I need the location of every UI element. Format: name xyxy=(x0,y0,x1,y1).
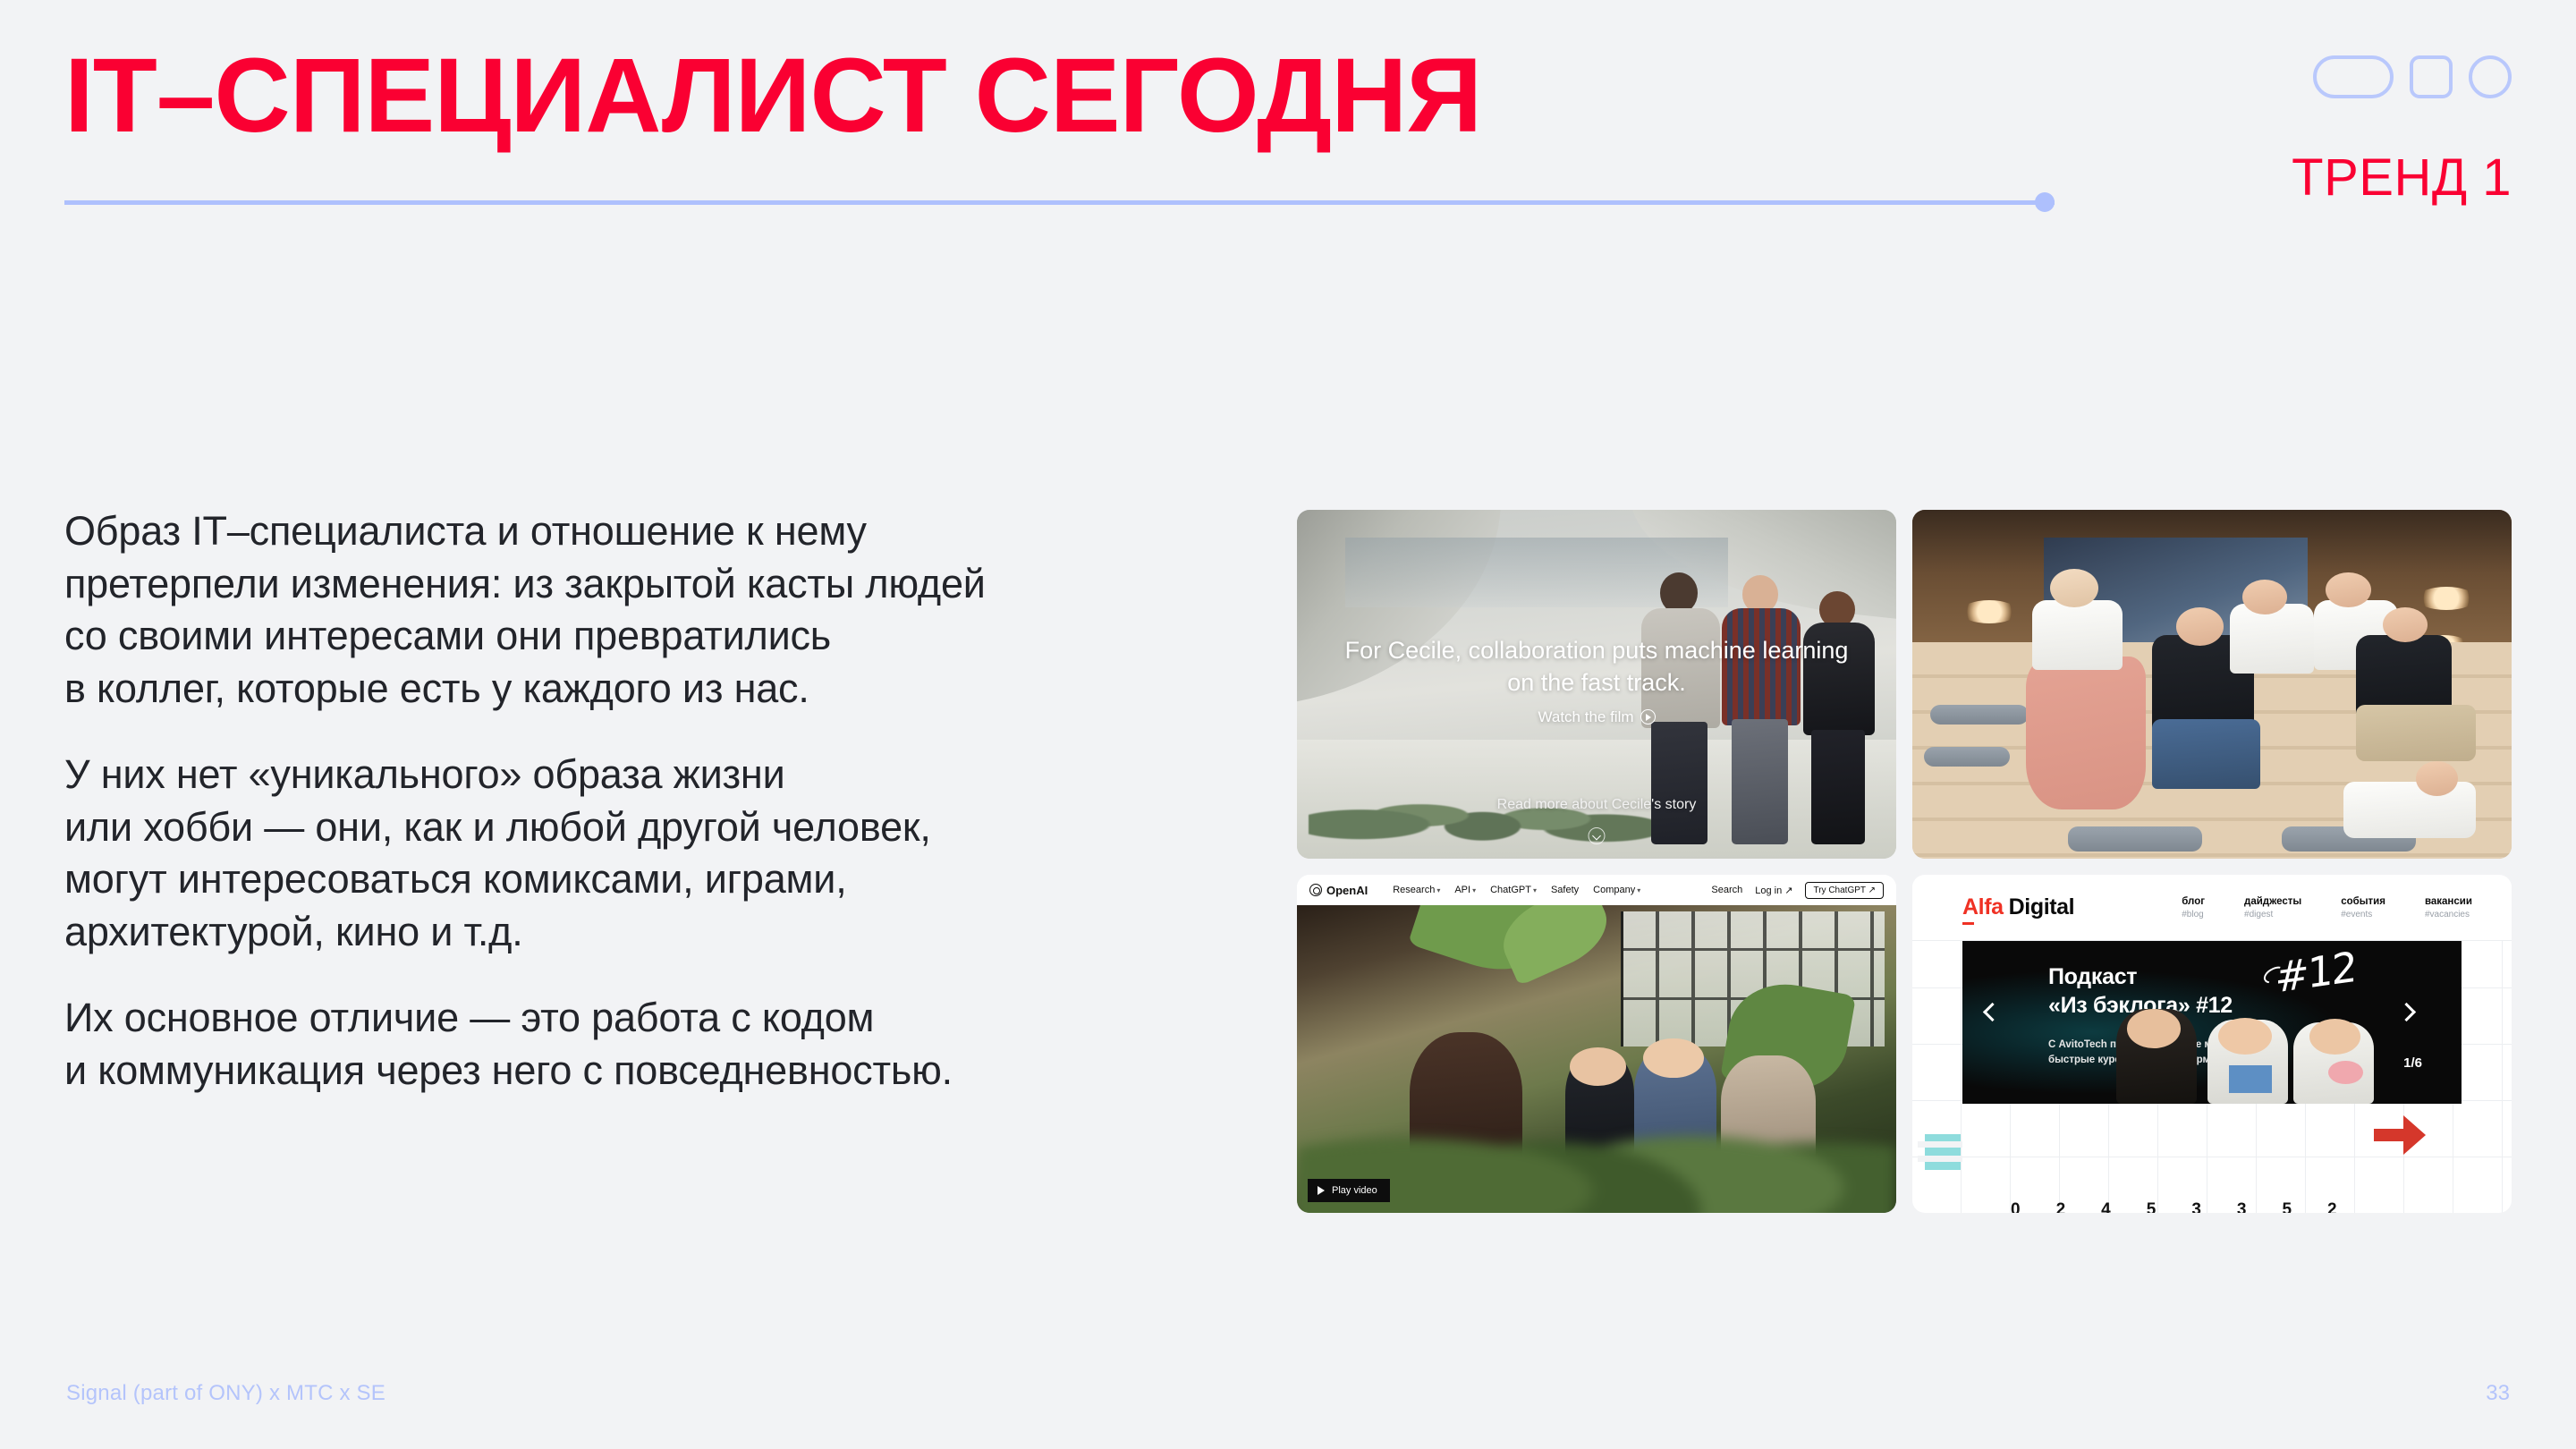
alfa-digital-logo[interactable]: Alfa Digital xyxy=(1962,894,2074,920)
person-white-tee xyxy=(2230,604,2314,674)
team-photo-image xyxy=(1912,510,2512,859)
openai-menu-research[interactable]: Research▾ xyxy=(1393,885,1440,895)
openai-hero-photo xyxy=(1297,905,1896,1213)
alfa-nav: блог #blog дайджесты #digest события #ev… xyxy=(2182,896,2472,919)
openai-menu-api[interactable]: API▾ xyxy=(1454,885,1476,895)
alfa-nav-blog[interactable]: блог #blog xyxy=(2182,896,2205,919)
podcast-line-1: Подкаст xyxy=(2048,964,2233,990)
person-head xyxy=(2383,607,2428,642)
person-pink-skirt xyxy=(2026,657,2146,810)
alfa-nav-digest[interactable]: дайджесты #digest xyxy=(2244,896,2301,919)
apple-hero-photo: For Cecile, collaboration puts machine l… xyxy=(1297,510,1896,859)
guest-2-print xyxy=(2229,1065,2272,1093)
guest-1-head xyxy=(2127,1009,2181,1047)
play-triangle-icon xyxy=(1318,1186,1325,1195)
page-title: IT–СПЕЦИАЛИСТ СЕГОДНЯ xyxy=(64,43,1481,148)
divider-line xyxy=(64,200,2055,205)
cyan-block-shape xyxy=(1925,1134,1961,1170)
card-openai-site[interactable]: OpenAI Research▾ API▾ ChatGPT▾ Safety Co… xyxy=(1297,875,1896,1213)
person-head xyxy=(2050,569,2098,607)
seat-cushion-shape xyxy=(1930,705,2029,724)
body-paragraph-3: Их основное отличие — это работа с кодом… xyxy=(64,992,1209,1097)
slide-root: IT–СПЕЦИАЛИСТ СЕГОДНЯ ТРЕНД 1 Образ IT–с… xyxy=(0,0,2576,1449)
header-divider xyxy=(64,192,2055,212)
carousel-prev-icon[interactable] xyxy=(1983,1003,2002,1021)
grid-number: 3 xyxy=(2237,1200,2247,1213)
grid-number: 0 xyxy=(2011,1200,2021,1213)
person-white-shirt xyxy=(2032,600,2123,670)
chevron-down-icon: ▾ xyxy=(1637,886,1640,894)
grid-number: 2 xyxy=(2327,1200,2337,1213)
play-circle-icon xyxy=(1640,709,1656,724)
openai-menu-company[interactable]: Company▾ xyxy=(1593,885,1640,895)
grid-numbers: 0 2 4 5 3 3 5 2 xyxy=(2011,1200,2337,1213)
carousel-counter: 1/6 xyxy=(2403,1055,2422,1071)
openai-logo[interactable]: OpenAI xyxy=(1309,884,1368,897)
card-team-photo[interactable] xyxy=(1912,510,2512,859)
podcast-guests-photo xyxy=(2111,996,2379,1104)
openai-menu-safety[interactable]: Safety xyxy=(1551,885,1579,895)
grid-number: 3 xyxy=(2191,1200,2201,1213)
alfa-header: Alfa Digital блог #blog дайджесты #diges… xyxy=(1912,875,2512,941)
openai-search-link[interactable]: Search xyxy=(1711,885,1742,895)
next-arrow-icon[interactable] xyxy=(2374,1114,2426,1156)
hash-number-mark: #12 xyxy=(2275,942,2355,1002)
decor-shapes xyxy=(2313,55,2512,98)
openai-brand-label: OpenAI xyxy=(1326,884,1368,897)
chevron-down-icon[interactable] xyxy=(1589,827,1606,844)
openai-menu: Research▾ API▾ ChatGPT▾ Safety Company▾ xyxy=(1393,885,1640,895)
openai-try-chatgpt-button[interactable]: Try ChatGPT ↗ xyxy=(1805,882,1884,899)
body-copy: Образ IT–специалиста и отношение к нему … xyxy=(64,505,1209,1097)
divider-dot-icon xyxy=(2035,192,2055,212)
trend-label: ТРЕНД 1 xyxy=(2292,148,2512,208)
rounded-square-shape-icon xyxy=(2410,55,2453,98)
person-khaki-trousers xyxy=(2356,705,2476,760)
reference-card-grid: For Cecile, collaboration puts machine l… xyxy=(1297,510,2512,1212)
guest-3-head xyxy=(2309,1019,2360,1055)
alfa-logo-dark: Digital xyxy=(2009,894,2075,920)
pill-shape-icon xyxy=(2313,55,2394,98)
body-paragraph-2: У них нет «уникального» образа жизни или… xyxy=(64,749,1209,958)
page-number: 33 xyxy=(2486,1381,2510,1406)
person-head xyxy=(2242,580,2287,614)
person-head-glasses xyxy=(2416,761,2458,796)
carousel-next-icon[interactable] xyxy=(2397,1003,2416,1021)
circle-shape-icon xyxy=(2469,55,2512,98)
person-lying-white-shirt xyxy=(2343,782,2475,837)
grid-number: 5 xyxy=(2147,1200,2157,1213)
alfa-nav-vacancies[interactable]: вакансии #vacancies xyxy=(2425,896,2472,919)
chevron-down-icon: ▾ xyxy=(1472,886,1476,894)
person-head xyxy=(2176,607,2224,646)
apple-read-more-link[interactable]: Read more about Cecile's story xyxy=(1297,797,1896,813)
grid-number: 4 xyxy=(2101,1200,2111,1213)
openai-nav-actions: Search Log in ↗ Try ChatGPT ↗ xyxy=(1711,882,1884,899)
alfa-logo-red: Alfa xyxy=(1962,894,2004,920)
apple-watch-film-link[interactable]: Watch the film xyxy=(1297,708,1896,726)
chevron-down-icon: ▾ xyxy=(1436,886,1440,894)
ceiling-lamp-icon xyxy=(2417,587,2476,610)
play-video-button[interactable]: Play video xyxy=(1308,1179,1390,1202)
openai-mark-icon xyxy=(1309,884,1322,896)
grid-number: 5 xyxy=(2282,1200,2292,1213)
guest-2-head xyxy=(2218,1018,2272,1055)
openai-login-link[interactable]: Log in ↗ xyxy=(1755,885,1792,896)
chevron-down-icon: ▾ xyxy=(1533,886,1537,894)
alfa-podcast-banner[interactable]: #12 Подкаст «Из бэклога» #12 С AvitoTech… xyxy=(1962,941,2462,1104)
body-paragraph-1: Образ IT–специалиста и отношение к нему … xyxy=(64,505,1209,715)
person-jeans xyxy=(2152,719,2260,789)
apple-headline: For Cecile, collaboration puts machine l… xyxy=(1297,635,1896,699)
person-head xyxy=(2326,572,2370,607)
card-apple-hero[interactable]: For Cecile, collaboration puts machine l… xyxy=(1297,510,1896,859)
alfa-nav-events[interactable]: события #events xyxy=(2341,896,2385,919)
seat-cushion-shape xyxy=(1924,747,2010,767)
openai-menu-chatgpt[interactable]: ChatGPT▾ xyxy=(1490,885,1537,895)
grid-number: 2 xyxy=(2056,1200,2066,1213)
apple-watch-label: Watch the film xyxy=(1538,708,1633,725)
play-video-label: Play video xyxy=(1332,1185,1377,1196)
footer-credit: Signal (part of ONY) x MTC x SE xyxy=(66,1381,386,1406)
seat-cushion-shape xyxy=(2068,826,2202,852)
card-alfa-digital[interactable]: Alfa Digital блог #blog дайджесты #diges… xyxy=(1912,875,2512,1213)
openai-navbar: OpenAI Research▾ API▾ ChatGPT▾ Safety Co… xyxy=(1297,875,1896,905)
